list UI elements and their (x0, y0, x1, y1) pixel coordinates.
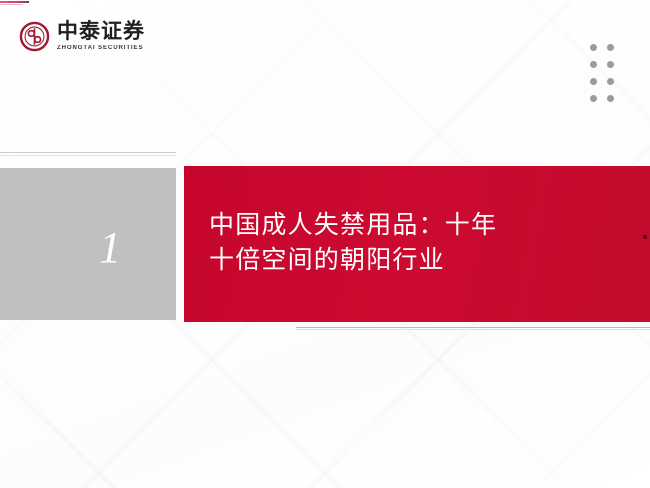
logo-company-name-cn: 中泰证券 (57, 21, 145, 42)
top-left-accent-rule-secondary (0, 4, 22, 5)
top-left-accent-rule (0, 1, 29, 3)
section-divider-line-secondary (0, 155, 176, 156)
logo-company-name-en: ZHONGTAI SECURITIES (57, 45, 147, 51)
edge-artifact-dot (643, 235, 647, 239)
logo-text-group: 中泰证券 ZHONGTAI SECURITIES (57, 21, 145, 51)
section-divider-line (0, 152, 176, 153)
title-underline-rule-secondary (296, 329, 650, 330)
dot (590, 44, 597, 51)
section-title-block: 中国成人失禁用品：十年 十倍空间的朝阳行业 (184, 166, 650, 322)
section-title: 中国成人失禁用品：十年 十倍空间的朝阳行业 (209, 207, 497, 278)
dot (607, 61, 614, 68)
dot (607, 44, 614, 51)
dot (590, 95, 597, 102)
title-underline-rule (296, 327, 650, 328)
presentation-slide: 中泰证券 ZHONGTAI SECURITIES 1 中国成人失禁用品：十年 十… (0, 0, 650, 488)
section-number-block: 1 (0, 168, 176, 320)
dot (590, 78, 597, 85)
dot (607, 95, 614, 102)
decorative-dot-grid (590, 44, 614, 102)
zhongtai-circular-emblem-icon (19, 21, 50, 52)
dot (590, 61, 597, 68)
dot (607, 78, 614, 85)
company-logo: 中泰证券 ZHONGTAI SECURITIES (19, 17, 145, 55)
section-number: 1 (99, 226, 121, 270)
